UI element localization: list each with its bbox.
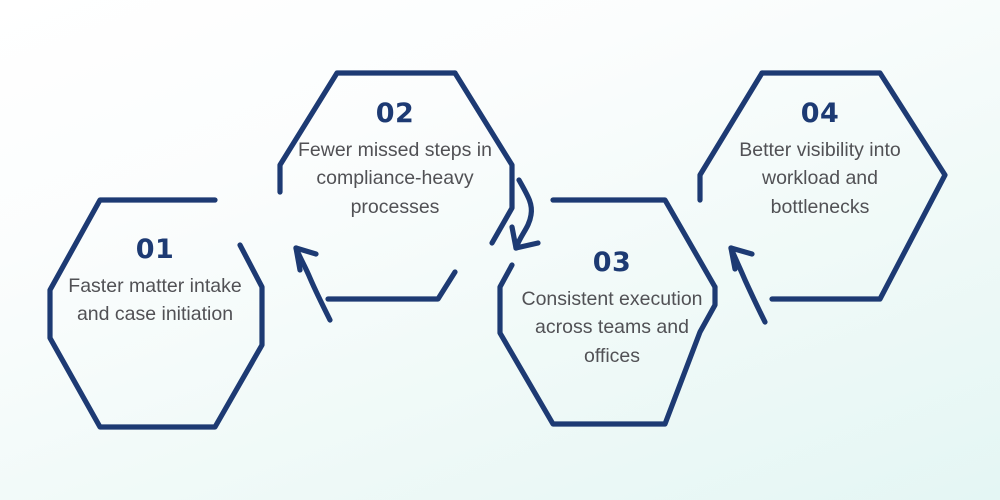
connector-arrow-1-to-2 bbox=[296, 248, 330, 320]
hexagon-outline-2 bbox=[280, 73, 455, 192]
hexagon-outline-4 bbox=[762, 73, 945, 299]
connector-arrowhead-2-to-3 bbox=[512, 227, 516, 248]
hexagon-outline-2-right bbox=[455, 73, 512, 243]
hexagon-outline-2-bottom bbox=[328, 272, 455, 299]
hexagon-flow-artwork bbox=[0, 0, 1000, 500]
hexagon-outline-1 bbox=[50, 200, 262, 427]
infographic-canvas: 01 Faster matter intake and case initiat… bbox=[0, 0, 1000, 500]
connector-arrow-3-to-4 bbox=[731, 248, 765, 322]
hexagon-outline-3-right bbox=[500, 265, 715, 424]
hexagon-outline-3-top bbox=[553, 200, 715, 287]
hexagon-outline-4-left bbox=[700, 73, 762, 200]
connector-arrow-2-to-3 bbox=[516, 180, 531, 248]
